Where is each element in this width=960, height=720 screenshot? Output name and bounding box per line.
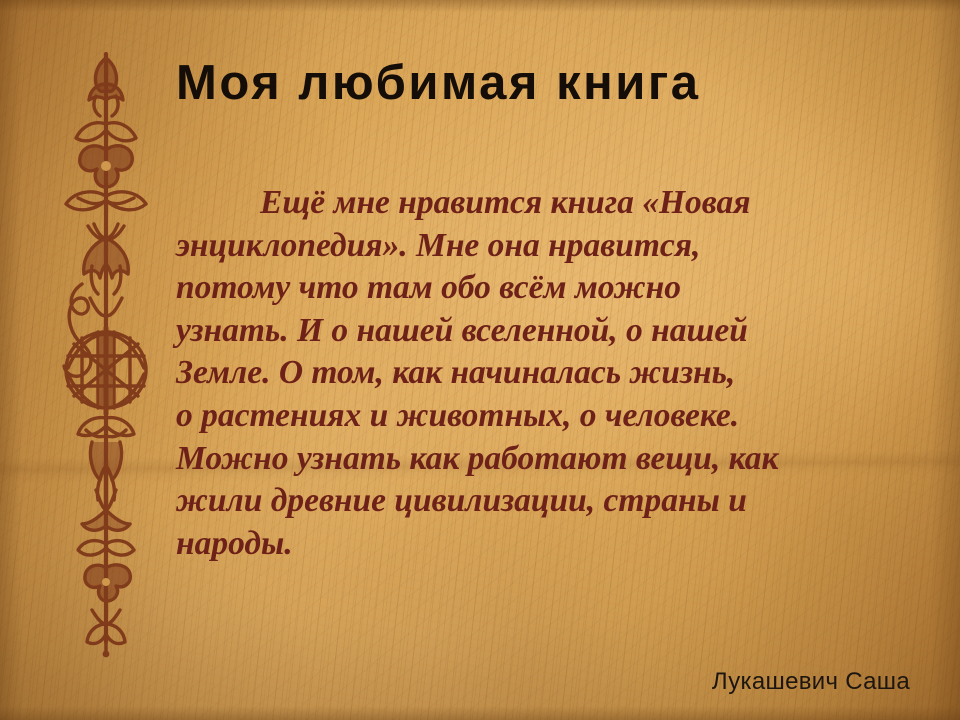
slide-canvas: Моя любимая книга Ещё мне нравится книга… [0, 0, 960, 720]
parchment-edge-right [930, 0, 960, 720]
page-title: Моя любимая книга [176, 52, 906, 114]
body-line: потому что там обо всём можно [176, 267, 914, 310]
author-signature: Лукашевич Саша [712, 668, 910, 696]
body-paragraph: Ещё мне нравится книга «Новая энциклопед… [176, 182, 914, 565]
body-line: народы. [176, 523, 914, 566]
body-line: Ещё мне нравится книга «Новая [176, 182, 914, 225]
body-line: энциклопедия». Мне она нравится, [176, 225, 914, 268]
body-line: жили древние цивилизации, страны и [176, 480, 914, 523]
body-line: о растениях и животных, о человеке. [176, 395, 914, 438]
body-line: Можно узнать как работают вещи, как [176, 438, 914, 481]
body-line: узнать. И о нашей вселенной, о нашей [176, 310, 914, 353]
parchment-edge-top [0, 0, 960, 12]
parchment-edge-left [0, 0, 22, 720]
body-line: Земле. О том, как начиналась жизнь, [176, 352, 914, 395]
parchment-edge-bottom [0, 706, 960, 720]
floral-vine-ornament-icon [48, 38, 164, 658]
